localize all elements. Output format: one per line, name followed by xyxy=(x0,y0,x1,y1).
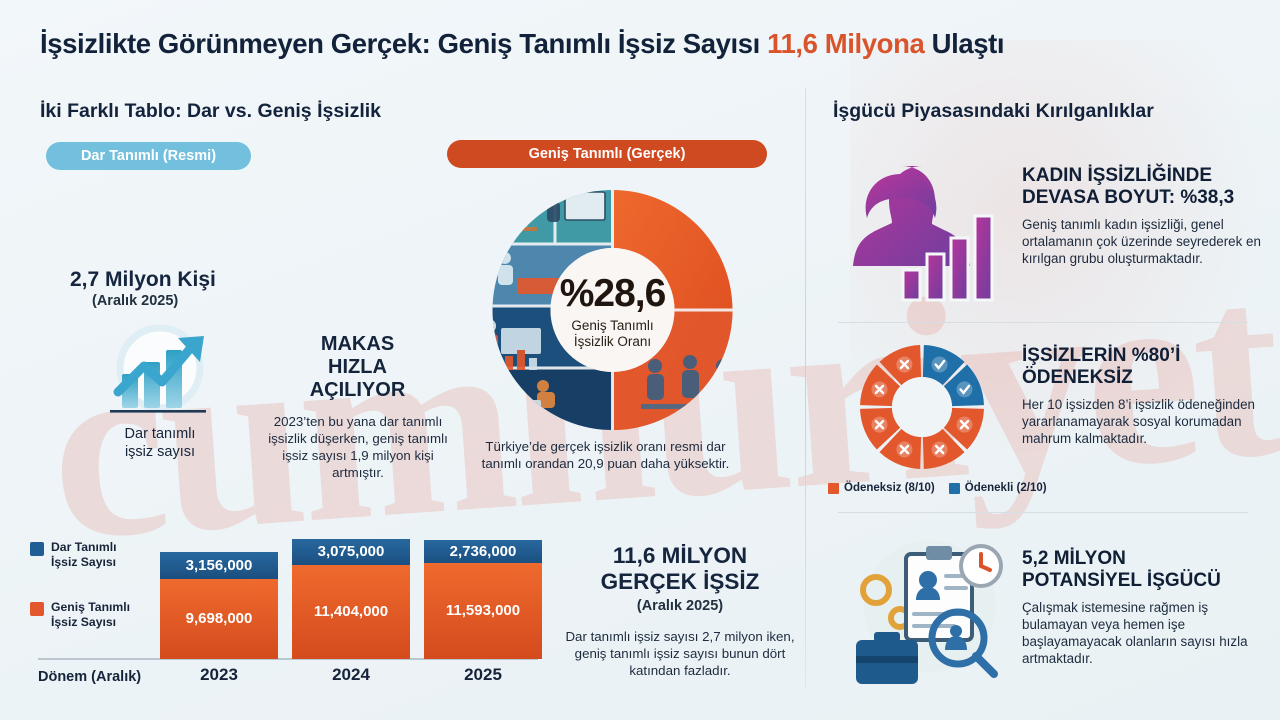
narrow-period: (Aralık 2025) xyxy=(92,293,178,309)
pill-broad-definition: Geniş Tanımlı (Gerçek) xyxy=(447,140,767,168)
bar-segment-broad: 11,404,000 xyxy=(292,565,410,660)
right-section-heading: İşgücü Piyasasındaki Kırılganlıklar xyxy=(833,100,1154,123)
right-separator-2 xyxy=(838,512,1248,513)
bar-column-2025: 2,736,00011,593,000 xyxy=(424,540,542,659)
x-axis-label: Dönem (Aralık) xyxy=(38,669,141,685)
right-block-heading-women: KADIN İŞSİZLİĞİNDEDEVASA BOYUT: %38,3 xyxy=(1022,165,1267,209)
right-block-benefit: İŞSİZLERİN %80’İÖDENEKSİZ Her 10 işsizde… xyxy=(1022,345,1267,447)
pill-narrow-definition: Dar Tanımlı (Resmi) xyxy=(46,142,251,170)
legend-swatch xyxy=(828,483,839,494)
bar-segment-narrow: 3,075,000 xyxy=(292,539,410,564)
bar-segment-narrow: 2,736,000 xyxy=(424,540,542,563)
legend-item: Ödeneksiz (8/10) xyxy=(828,482,935,494)
bar-segment-broad: 9,698,000 xyxy=(160,579,278,659)
narrow-value: 2,7 Milyon Kişi xyxy=(70,268,216,292)
bar-column-2023: 3,156,0009,698,000 xyxy=(160,552,278,659)
page-title: İşsizlikte Görünmeyen Gerçek: Geniş Tanı… xyxy=(40,28,1250,60)
legend-item: Ödenekli (2/10) xyxy=(949,482,1047,494)
makas-heading: MAKASHIZLAAÇILIYOR xyxy=(265,333,450,402)
narrow-icon-caption: Dar tanımlıişsiz sayısı xyxy=(95,425,225,461)
stacked-bar-chart: Dar Tanımlıİşsiz Sayısı Geniş Tanımlıİşs… xyxy=(30,512,540,687)
title-tail: Ulaştı xyxy=(924,28,1004,59)
benefit-donut-legend: Ödeneksiz (8/10)Ödenekli (2/10) xyxy=(828,482,1047,494)
million-heading: 11,6 MİLYONGERÇEK İŞSİZ xyxy=(560,543,800,595)
growth-arrow-chart-icon xyxy=(82,322,232,422)
makas-text: 2023’ten bu yana dar tanımlı işsizlik dü… xyxy=(258,413,458,481)
donut-center-sublabel: Geniş Tanımlıİşsizlik Oranı xyxy=(465,318,760,350)
right-block-heading-potential: 5,2 MİLYONPOTANSİYEL İŞGÜCÜ xyxy=(1022,548,1272,592)
left-section-heading: İki Farklı Tablo: Dar vs. Geniş İşsizlik xyxy=(40,100,381,123)
legend-swatch xyxy=(949,483,960,494)
legend-narrow: Dar Tanımlıİşsiz Sayısı xyxy=(30,540,116,569)
check-icon xyxy=(932,357,948,373)
legend-swatch-broad xyxy=(30,602,44,616)
bar-segment-broad: 11,593,000 xyxy=(424,563,542,659)
check-icon xyxy=(956,381,972,397)
right-block-text-benefit: Her 10 işsizden 8’i işsizlik ödeneğinden… xyxy=(1022,396,1267,447)
donut-ratio-icon xyxy=(848,336,996,478)
right-separator-1 xyxy=(838,322,1248,323)
bar-column-2024: 3,075,00011,404,000 xyxy=(292,539,410,659)
title-highlight: 11,6 Milyona xyxy=(767,28,924,59)
briefcase-search-icon xyxy=(838,532,1013,692)
bar-segment-narrow: 3,156,000 xyxy=(160,552,278,578)
x-tick-2025: 2025 xyxy=(424,665,542,685)
right-block-text-potential: Çalışmak istemesine rağmen iş bulamayan … xyxy=(1022,599,1272,667)
donut-center-value: %28,6 xyxy=(465,272,760,316)
donut-caption: Türkiye’de gerçek işsizlik oranı resmi d… xyxy=(478,438,733,472)
right-block-potential: 5,2 MİLYONPOTANSİYEL İŞGÜCÜ Çalışmak ist… xyxy=(1022,548,1272,667)
legend-broad: Geniş Tanımlıİşsiz Sayısı xyxy=(30,600,130,629)
right-block-text-women: Geniş tanımlı kadın işsizliği, genel ort… xyxy=(1022,216,1267,267)
right-block-women: KADIN İŞSİZLİĞİNDEDEVASA BOYUT: %38,3 Ge… xyxy=(1022,165,1267,267)
right-block-heading-benefit: İŞSİZLERİN %80’İÖDENEKSİZ xyxy=(1022,345,1267,389)
legend-label-broad: Geniş Tanımlıİşsiz Sayısı xyxy=(51,600,130,629)
column-divider xyxy=(805,88,806,688)
title-lead: İşsizlikte Görünmeyen Gerçek: Geniş Tanı… xyxy=(40,28,767,59)
million-period: (Aralık 2025) xyxy=(560,598,800,614)
legend-label: Ödenekli (2/10) xyxy=(965,482,1047,494)
x-tick-2023: 2023 xyxy=(160,665,278,685)
legend-label: Ödeneksiz (8/10) xyxy=(844,482,935,494)
million-text: Dar tanımlı işsiz sayısı 2,7 milyon iken… xyxy=(555,628,805,679)
legend-swatch-narrow xyxy=(30,542,44,556)
legend-label-narrow: Dar Tanımlıİşsiz Sayısı xyxy=(51,540,116,569)
woman-with-bar-chart-icon xyxy=(843,158,1008,308)
x-tick-2024: 2024 xyxy=(292,665,410,685)
